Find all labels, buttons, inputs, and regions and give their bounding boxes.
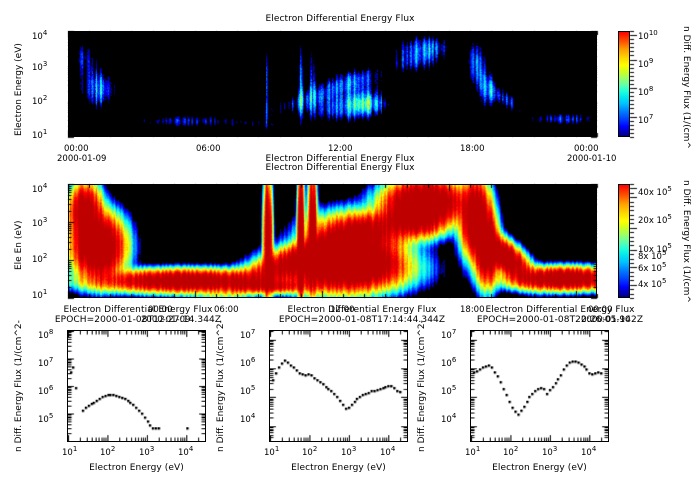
spectrogram-top[interactable] (68, 31, 597, 137)
spectrum-1-title: Electron Differential Energy Flux (262, 305, 462, 315)
xtick-top-4-date: 2000-01-10 (567, 154, 616, 164)
ytick-mid-3: 103 (32, 219, 47, 229)
spectrum-0-ylabel: n Diff. Energy Flux (1/(cm^2- (14, 320, 24, 452)
panel-mid-title: Electron Differential Energy Flux (190, 163, 490, 173)
ytick-top-3: 103 (32, 63, 47, 73)
spectrum-0-ytick-8: 108 (38, 331, 53, 341)
cbar-top-tick-7: 107 (638, 116, 653, 126)
panel-top-title: Electron Differential Energy Flux (190, 14, 490, 24)
xtick-top-3: 18:00 (460, 144, 485, 154)
xtick-top-2: 12:00 (328, 144, 353, 154)
spectrum-2-xtick-3: 103 (542, 448, 557, 458)
spectrum-plot-0[interactable] (67, 330, 206, 442)
colorbar-top (618, 31, 630, 137)
spectrum-0-epoch: EPOCH=2000-01-08T12:27:14.344Z (38, 315, 238, 325)
cbar-top-tick-9: 109 (638, 60, 653, 70)
cbar-top-tick-8: 108 (638, 88, 653, 98)
spectrum-0-xtick-3: 103 (139, 448, 154, 458)
spectrum-0-xtick-1: 101 (62, 448, 77, 458)
ytick-mid-2: 102 (32, 255, 47, 265)
spectrum-0-ytick-6: 106 (38, 387, 53, 397)
colorbar-mid-label: n Diff. Energy Flux (1/(cm^ (681, 180, 691, 303)
panel-mid-ylabel: Ele En (eV) (14, 220, 24, 270)
spectrum-0-xlabel: Electron Energy (eV) (67, 463, 206, 473)
ytick-mid-4: 104 (32, 185, 47, 195)
spectrum-2-xtick-1: 101 (465, 448, 480, 458)
spectrum-2-xlabel: Electron Energy (eV) (470, 463, 609, 473)
spectrum-1-ytick-7: 107 (240, 331, 255, 341)
xtick-top-1: 06:00 (196, 144, 221, 154)
spectrum-0-xtick-2: 102 (100, 448, 115, 458)
figure-root: Electron Differential Energy Flux Electr… (0, 0, 697, 492)
spectrum-1-ytick-4: 104 (240, 415, 255, 425)
colorbar-mid-gradient (619, 185, 629, 297)
spectrum-1-xlabel: Electron Energy (eV) (269, 463, 408, 473)
spectrum-2-epoch: EPOCH=2000-01-08T20:26:05.942Z (460, 315, 660, 325)
panel-top-xlabel: Electron Differential Energy Flux (190, 154, 490, 164)
spectrum-2-ytick-5: 105 (441, 387, 456, 397)
cbar-mid-tick-5: 4x 105 (638, 280, 666, 290)
panel-top-ylabel: Electron Energy (eV) (14, 43, 24, 136)
spectrum-1-ytick-5: 105 (240, 387, 255, 397)
colorbar-top-gradient (619, 32, 629, 136)
ytick-top-1: 101 (32, 131, 47, 141)
xtick-top-0-date: 2000-01-09 (57, 154, 106, 164)
spectrum-2-ytick-4: 104 (441, 415, 456, 425)
spectrum-0-xtick-4: 104 (178, 448, 193, 458)
cbar-mid-tick-0: 40x 105 (638, 188, 672, 198)
spectrum-0-title: Electron Differential Energy Flux (38, 305, 238, 315)
spectrogram-mid[interactable] (68, 184, 597, 298)
colorbar-mid (618, 184, 630, 298)
spectrum-plot-2[interactable] (470, 330, 609, 442)
spectrum-1-epoch: EPOCH=2000-01-08T17:14:44.344Z (262, 315, 462, 325)
spectrum-2-ytick-7: 107 (441, 331, 456, 341)
spectrum-1-xtick-2: 102 (302, 448, 317, 458)
spectrum-2-ytick-6: 106 (441, 359, 456, 369)
spectrum-0-ytick-7: 107 (38, 359, 53, 369)
spectrum-1-xtick-3: 103 (341, 448, 356, 458)
cbar-mid-tick-4: 6x 105 (638, 264, 666, 274)
ytick-top-2: 102 (32, 97, 47, 107)
spectrum-2-ylabel: n Diff. Energy Flux (1/(cm^2- (417, 320, 427, 452)
spectrum-0-ytick-5: 105 (38, 415, 53, 425)
spectrum-2-xtick-2: 102 (503, 448, 518, 458)
spectrum-plot-1[interactable] (269, 330, 408, 442)
spectrum-2-xtick-4: 104 (581, 448, 596, 458)
spectrum-1-ytick-6: 106 (240, 359, 255, 369)
spectrum-2-title: Electron Differential Energy Flux (460, 305, 660, 315)
xtick-top-0: 00:00 (64, 144, 89, 154)
cbar-mid-tick-1: 20x 105 (638, 216, 672, 226)
xtick-top-4: 00:00 (574, 144, 599, 154)
spectrum-1-xtick-1: 101 (264, 448, 279, 458)
cbar-top-tick-10: 1010 (638, 32, 658, 42)
ytick-mid-1: 101 (32, 291, 47, 301)
ytick-top-4: 104 (32, 32, 47, 42)
colorbar-top-label: n Diff. Energy Flux (1/(cm^ (681, 26, 691, 149)
spectrum-1-xtick-4: 104 (380, 448, 395, 458)
spectrum-1-ylabel: n Diff. Energy Flux (1/(cm^2- (216, 320, 226, 452)
